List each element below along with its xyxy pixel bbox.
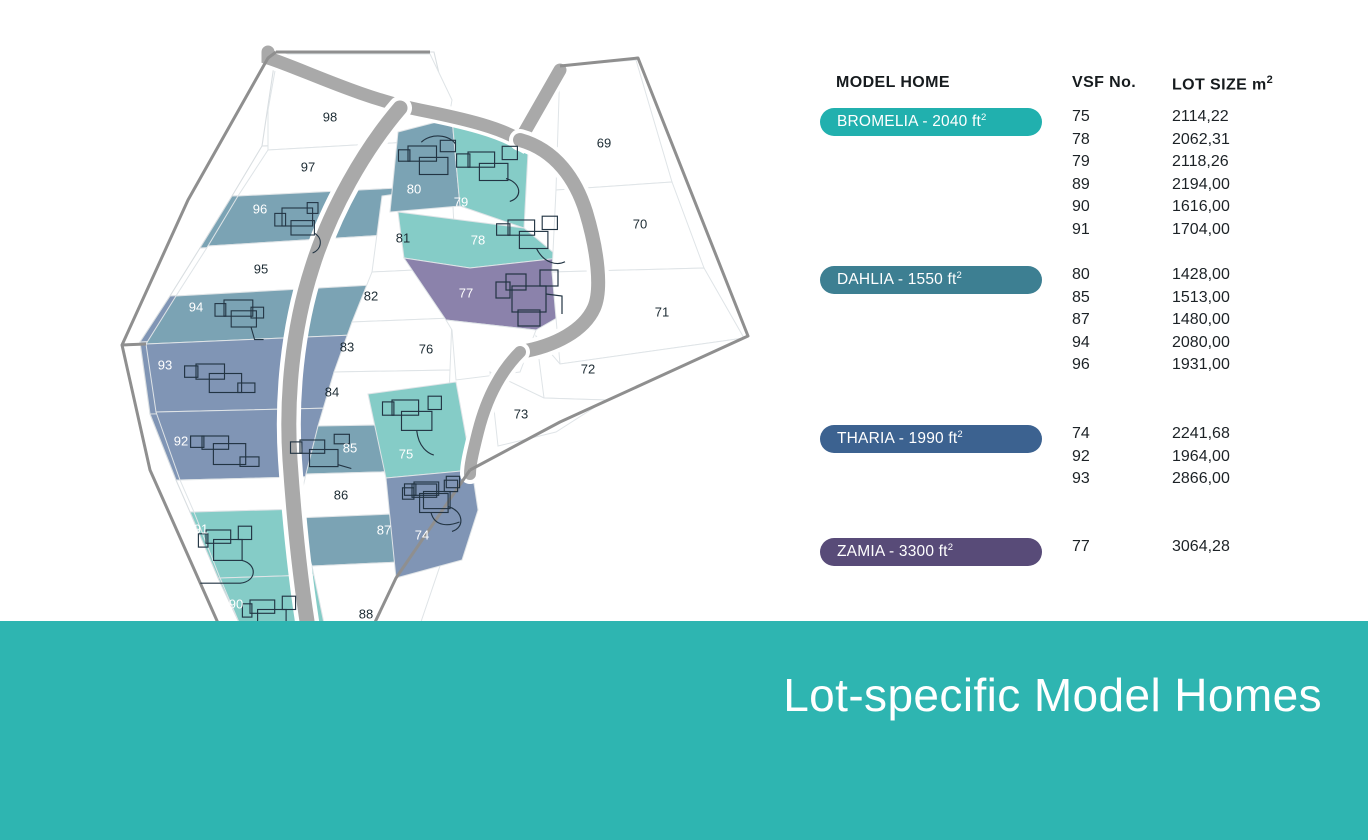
vsf-number: 89 xyxy=(1072,176,1090,194)
column-header-lot-size-text: LOT SIZE m xyxy=(1172,76,1267,93)
legend-group-tharia: THARIA - 1990 ft2742241,68921964,0093286… xyxy=(820,425,1340,507)
lot-number-86[interactable]: 86 xyxy=(334,487,348,502)
lot-size-value: 1480,00 xyxy=(1172,311,1230,329)
lot-size-value: 2114,22 xyxy=(1172,108,1229,126)
legend-panel: MODEL HOME VSF No. LOT SIZE m2 BROMELIA … xyxy=(820,74,1340,668)
vsf-number: 77 xyxy=(1072,538,1090,556)
table-row[interactable]: 942080,00 xyxy=(1072,334,1340,357)
lot-number-72[interactable]: 72 xyxy=(581,361,595,376)
site-plan-page: 9897969594939291908988878685848382818079… xyxy=(0,0,1368,840)
column-header-lot-size: LOT SIZE m2 xyxy=(1172,74,1273,94)
lot-number-77[interactable]: 77 xyxy=(459,285,473,300)
lot-number-82[interactable]: 82 xyxy=(364,288,378,303)
table-row[interactable]: 782062,31 xyxy=(1072,131,1340,154)
model-pill-bromelia[interactable]: BROMELIA - 2040 ft2 xyxy=(820,108,1042,136)
model-pill-superscript: 2 xyxy=(957,270,962,281)
lot-number-69[interactable]: 69 xyxy=(597,135,611,150)
lot-number-92[interactable]: 92 xyxy=(174,433,188,448)
legend-group-zamia: ZAMIA - 3300 ft2773064,28 xyxy=(820,538,1340,575)
vsf-number: 96 xyxy=(1072,356,1090,374)
table-row[interactable]: 801428,00 xyxy=(1072,266,1340,289)
vsf-number: 85 xyxy=(1072,289,1090,307)
lot-size-value: 2062,31 xyxy=(1172,131,1230,149)
lot-number-78[interactable]: 78 xyxy=(471,232,485,247)
legend-group-dahlia: DAHLIA - 1550 ft2801428,00851513,0087148… xyxy=(820,266,1340,393)
lot-size-value: 2241,68 xyxy=(1172,425,1230,443)
vsf-number: 87 xyxy=(1072,311,1090,329)
lot-number-93[interactable]: 93 xyxy=(158,357,172,372)
table-row[interactable]: 921964,00 xyxy=(1072,448,1340,471)
model-pill-superscript: 2 xyxy=(957,429,962,440)
lot-number-71[interactable]: 71 xyxy=(655,304,669,319)
lot-number-90[interactable]: 90 xyxy=(229,596,243,611)
lot-number-95[interactable]: 95 xyxy=(254,261,268,276)
vsf-number: 80 xyxy=(1072,266,1090,284)
table-row[interactable]: 792118,26 xyxy=(1072,153,1340,176)
lot-number-81[interactable]: 81 xyxy=(396,230,410,245)
model-pill-superscript: 2 xyxy=(981,112,986,123)
model-pill-label: THARIA - 1990 ft2 xyxy=(837,429,963,448)
vsf-number: 79 xyxy=(1072,153,1090,171)
model-pill-superscript: 2 xyxy=(948,542,953,553)
vsf-number: 91 xyxy=(1072,221,1090,239)
lot-size-value: 1964,00 xyxy=(1172,448,1230,466)
column-header-vsf-no: VSF No. xyxy=(1072,74,1136,92)
vsf-number: 75 xyxy=(1072,108,1090,126)
model-pill-label: ZAMIA - 3300 ft2 xyxy=(837,542,953,561)
lot-number-97[interactable]: 97 xyxy=(301,159,315,174)
vsf-number: 78 xyxy=(1072,131,1090,149)
vsf-number: 93 xyxy=(1072,470,1090,488)
lot-rows-zamia: 773064,28 xyxy=(1072,538,1340,561)
lot-size-value: 2118,26 xyxy=(1172,153,1229,171)
lot-rows-dahlia: 801428,00851513,00871480,00942080,009619… xyxy=(1072,266,1340,379)
lot-size-value: 2080,00 xyxy=(1172,334,1230,352)
table-row[interactable]: 871480,00 xyxy=(1072,311,1340,334)
lot-size-value: 1704,00 xyxy=(1172,221,1230,239)
lot-number-94[interactable]: 94 xyxy=(189,299,203,314)
table-row[interactable]: 752114,22 xyxy=(1072,108,1340,131)
vsf-number: 92 xyxy=(1072,448,1090,466)
model-pill-dahlia[interactable]: DAHLIA - 1550 ft2 xyxy=(820,266,1042,294)
lot-number-83[interactable]: 83 xyxy=(340,339,354,354)
legend-group-bromelia: BROMELIA - 2040 ft2752114,22782062,31792… xyxy=(820,108,1340,257)
table-row[interactable]: 961931,00 xyxy=(1072,356,1340,379)
lot-number-88[interactable]: 88 xyxy=(359,606,373,621)
lot-number-70[interactable]: 70 xyxy=(633,216,647,231)
vsf-number: 90 xyxy=(1072,198,1090,216)
lot-number-79[interactable]: 79 xyxy=(454,194,468,209)
legend-group-list: BROMELIA - 2040 ft2752114,22782062,31792… xyxy=(820,108,1340,668)
vsf-number: 94 xyxy=(1072,334,1090,352)
lot-size-value: 2194,00 xyxy=(1172,176,1230,194)
model-pill-label: DAHLIA - 1550 ft2 xyxy=(837,270,962,289)
lot-rows-tharia: 742241,68921964,00932866,00 xyxy=(1072,425,1340,493)
lot-number-98[interactable]: 98 xyxy=(323,109,337,124)
table-row[interactable]: 773064,28 xyxy=(1072,538,1340,561)
lot-number-74[interactable]: 74 xyxy=(415,527,429,542)
legend-header-row: MODEL HOME VSF No. LOT SIZE m2 xyxy=(820,74,1340,108)
lot-number-96[interactable]: 96 xyxy=(253,201,267,216)
model-pill-tharia[interactable]: THARIA - 1990 ft2 xyxy=(820,425,1042,453)
lot-number-91[interactable]: 91 xyxy=(194,521,208,536)
lot-80[interactable] xyxy=(390,118,460,212)
lot-number-84[interactable]: 84 xyxy=(325,384,339,399)
lot-size-value: 1616,00 xyxy=(1172,198,1230,216)
lot-number-80[interactable]: 80 xyxy=(407,181,421,196)
lot-size-value: 1513,00 xyxy=(1172,289,1230,307)
column-header-model-home: MODEL HOME xyxy=(836,74,950,92)
lot-number-87[interactable]: 87 xyxy=(377,522,391,537)
column-header-lot-size-superscript: 2 xyxy=(1267,74,1274,86)
table-row[interactable]: 911704,00 xyxy=(1072,221,1340,244)
lot-size-value: 1931,00 xyxy=(1172,356,1230,374)
lot-number-75[interactable]: 75 xyxy=(399,446,413,461)
page-title: Lot-specific Model Homes xyxy=(783,668,1322,722)
lot-rows-bromelia: 752114,22782062,31792118,26892194,009016… xyxy=(1072,108,1340,243)
vsf-number: 74 xyxy=(1072,425,1090,443)
lot-size-value: 1428,00 xyxy=(1172,266,1230,284)
table-row[interactable]: 742241,68 xyxy=(1072,425,1340,448)
model-pill-label: BROMELIA - 2040 ft2 xyxy=(837,112,987,131)
lot-number-85[interactable]: 85 xyxy=(343,440,357,455)
table-row[interactable]: 892194,00 xyxy=(1072,176,1340,199)
table-row[interactable]: 932866,00 xyxy=(1072,470,1340,493)
table-row[interactable]: 851513,00 xyxy=(1072,289,1340,312)
lot-size-value: 3064,28 xyxy=(1172,538,1230,556)
model-pill-zamia[interactable]: ZAMIA - 3300 ft2 xyxy=(820,538,1042,566)
lot-number-76[interactable]: 76 xyxy=(419,341,433,356)
lot-size-value: 2866,00 xyxy=(1172,470,1230,488)
lot-number-73[interactable]: 73 xyxy=(514,406,528,421)
table-row[interactable]: 901616,00 xyxy=(1072,198,1340,221)
